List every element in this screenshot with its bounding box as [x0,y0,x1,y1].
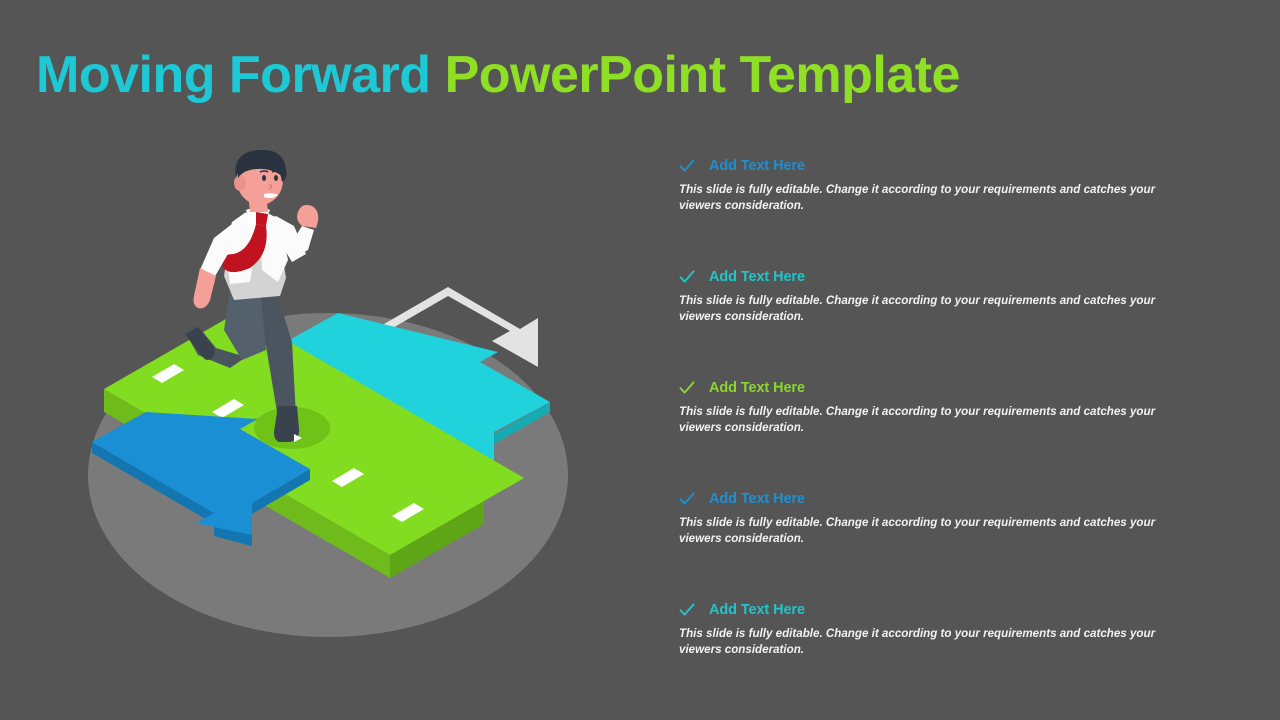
list-item-header: Add Text Here [679,489,1191,509]
list-item[interactable]: Add Text Here This slide is fully editab… [679,600,1191,657]
list-item-header: Add Text Here [679,267,1191,287]
check-icon [679,380,695,396]
bullet-list: Add Text Here This slide is fully editab… [679,156,1191,657]
isometric-illustration [80,150,600,650]
list-item-title: Add Text Here [709,380,805,396]
list-item-body: This slide is fully editable. Change it … [679,404,1187,435]
eye-left-shape [262,175,266,181]
check-icon [679,491,695,507]
list-item-body: This slide is fully editable. Change it … [679,515,1187,546]
list-item[interactable]: Add Text Here This slide is fully editab… [679,378,1191,489]
tie-shape [256,212,268,226]
ear-shape [234,175,246,191]
list-item-title: Add Text Here [709,602,805,618]
list-item[interactable]: Add Text Here This slide is fully editab… [679,489,1191,600]
list-item-title: Add Text Here [709,491,805,507]
check-icon [679,269,695,285]
list-item[interactable]: Add Text Here This slide is fully editab… [679,156,1191,267]
page-title: Moving ForwardPowerPoint Template [36,44,960,106]
list-item[interactable]: Add Text Here This slide is fully editab… [679,267,1191,378]
list-item-body: This slide is fully editable. Change it … [679,182,1187,213]
list-item-body: This slide is fully editable. Change it … [679,626,1187,657]
right-hand-shape [297,205,318,228]
list-item-header: Add Text Here [679,378,1191,398]
list-item-body: This slide is fully editable. Change it … [679,293,1187,324]
slide-canvas: Moving ForwardPowerPoint Template [0,0,1280,720]
list-item-title: Add Text Here [709,158,805,174]
list-item-title: Add Text Here [709,269,805,285]
eye-right-shape [274,175,278,181]
title-part-two: PowerPoint Template [445,46,960,104]
check-icon [679,158,695,174]
check-icon [679,602,695,618]
title-part-one: Moving Forward [36,46,431,104]
list-item-header: Add Text Here [679,600,1191,620]
list-item-header: Add Text Here [679,156,1191,176]
